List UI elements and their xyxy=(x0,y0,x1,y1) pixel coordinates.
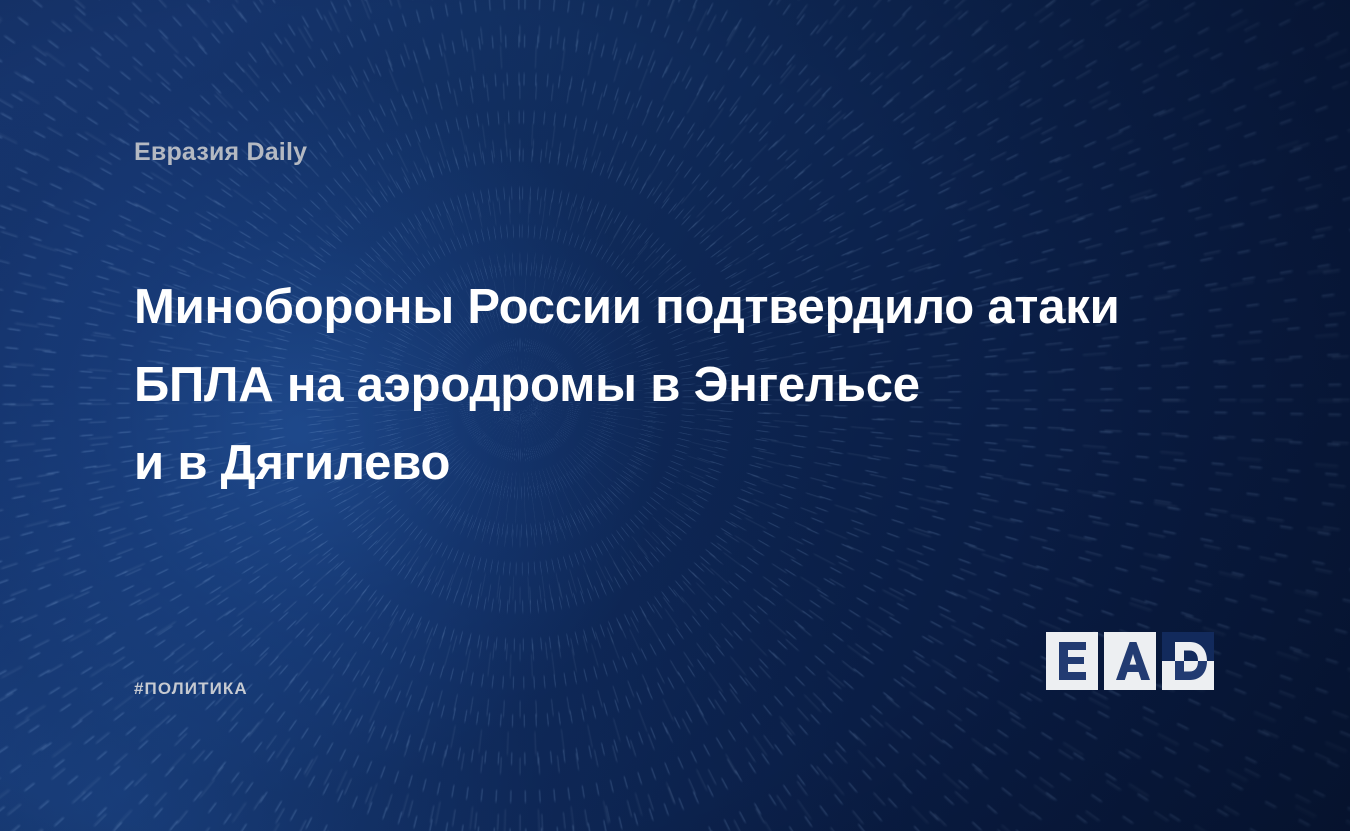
category-tag: #ПОЛИТИКА xyxy=(134,679,248,699)
ead-tile-d-bottom-half xyxy=(1162,661,1214,690)
news-share-card: Евразия Daily Минобороны России подтверд… xyxy=(0,0,1350,831)
ead-tile-e xyxy=(1046,632,1098,690)
card-content: Евразия Daily Минобороны России подтверд… xyxy=(0,0,1350,831)
headline-line-3: и в Дягилево xyxy=(134,424,1254,502)
ead-brand-logo xyxy=(1046,632,1214,690)
headline: Минобороны России подтвердило атаки БПЛА… xyxy=(134,268,1254,502)
headline-line-2: БПЛА на аэродромы в Энгельсе xyxy=(134,346,1254,424)
ead-tile-d xyxy=(1162,632,1214,690)
ead-tile-d-top-half xyxy=(1162,632,1214,661)
headline-line-1: Минобороны России подтвердило атаки xyxy=(134,268,1254,346)
ead-tile-a xyxy=(1104,632,1156,690)
site-logo-wordmark: Евразия Daily xyxy=(134,138,307,167)
